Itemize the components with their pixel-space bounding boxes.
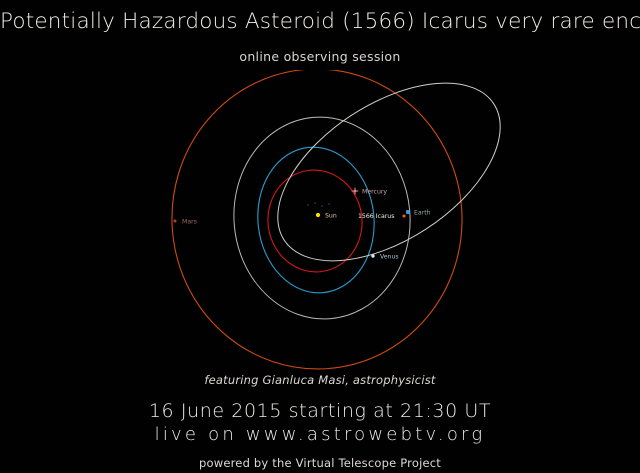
powered-by-line: powered by the Virtual Telescope Project [0, 456, 640, 470]
sun-label: Sun [325, 213, 337, 220]
featuring-line: featuring Gianluca Masi, astrophysicist [0, 373, 640, 387]
page-subtitle: online observing session [0, 49, 640, 64]
venus-marker-icon [371, 254, 374, 257]
faint-star-dot [314, 202, 316, 204]
page-title: Potentially Hazardous Asteroid (1566) Ic… [0, 9, 640, 34]
earth-marker-icon [406, 210, 410, 214]
mars-orbit [162, 70, 472, 379]
faint-star-dots-group [307, 202, 330, 207]
mercury-label: Mercury [362, 189, 387, 196]
stream-url-line: live on www.astrowebtv.org [0, 424, 640, 445]
poster-canvas: SunMercuryVenusEarthMars1566 Icarus Pote… [0, 0, 640, 473]
earth-label: Earth [414, 210, 431, 217]
venus-label: Venus [380, 254, 399, 261]
orbit-diagram: SunMercuryVenusEarthMars1566 Icarus [0, 70, 640, 380]
mercury-marker-core-icon [354, 190, 357, 193]
event-dateline: 16 June 2015 starting at 21:30 UT [0, 400, 640, 422]
faint-star-dot [328, 203, 330, 205]
faint-star-dot [321, 205, 323, 207]
icarus-label: 1566 Icarus [358, 213, 394, 220]
faint-star-dot [307, 204, 309, 206]
mars-marker-icon [174, 220, 177, 223]
sun-marker-icon [316, 213, 320, 217]
body-icarus: 1566 Icarus [358, 213, 406, 220]
body-mars: Mars [174, 219, 197, 226]
body-venus: Venus [371, 254, 398, 261]
icarus-marker-icon [403, 215, 406, 218]
body-sun: Sun [316, 213, 337, 220]
body-mercury: Mercury [352, 188, 388, 196]
orbit-paths-group [162, 70, 531, 379]
celestial-bodies-group: SunMercuryVenusEarthMars1566 Icarus [174, 188, 431, 261]
mars-label: Mars [182, 219, 197, 226]
